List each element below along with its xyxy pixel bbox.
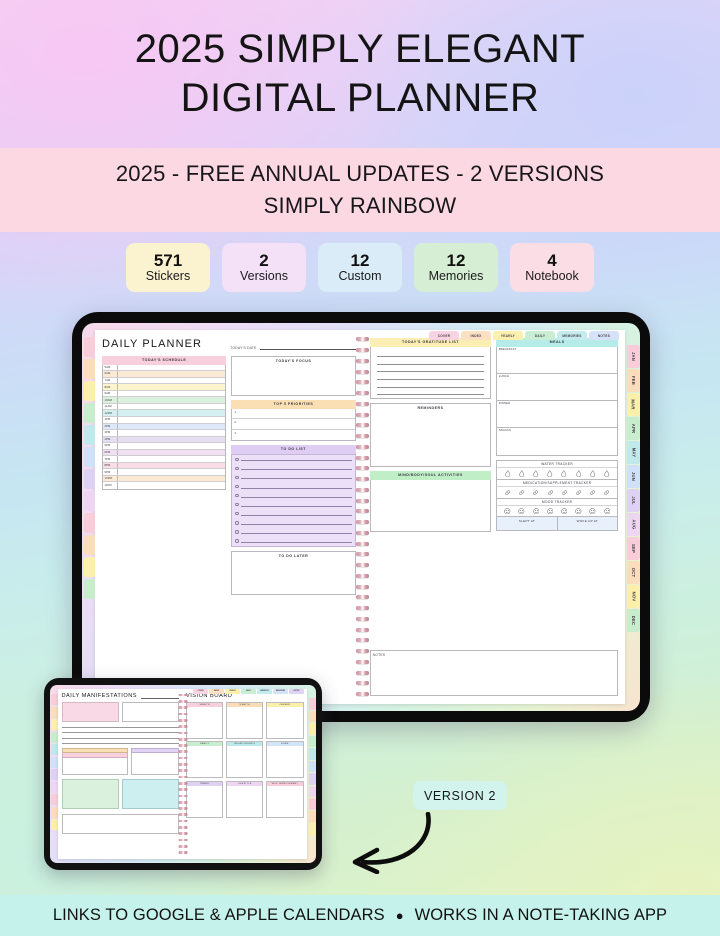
priorities-header: TOP 5 PRIORITIES	[231, 400, 355, 409]
meal-section-dinner[interactable]: DINNER	[497, 401, 617, 428]
schedule-entry[interactable]	[118, 371, 225, 377]
schedule-header: TODAY'S SCHEDULE	[102, 356, 226, 365]
pill-icon[interactable]	[589, 489, 596, 496]
todo-item[interactable]	[232, 482, 354, 491]
mood-tracker-panel: MOOD TRACKER SLEPT AT WOKE UP AT	[496, 499, 618, 531]
todo-item[interactable]	[232, 500, 354, 509]
todo-panel: TO DO LIST	[231, 445, 355, 547]
schedule-time: 11AM	[103, 404, 118, 410]
v2-section-tabs[interactable]: COVERINDEXYEARLYDAILYMANIFESTMEMORIESNOT…	[193, 689, 304, 694]
schedule-time: 7PM	[103, 456, 118, 462]
badge-label: Versions	[240, 270, 288, 284]
spiral-ring	[178, 832, 187, 835]
priority-row[interactable]: 3.	[232, 430, 354, 441]
vision-cell-label: HOME	[267, 742, 302, 746]
feature-badge-stickers: 571Stickers	[126, 243, 210, 292]
water-drop-icon[interactable]	[576, 470, 582, 477]
schedule-entry[interactable]	[118, 404, 225, 410]
schedule-entry[interactable]	[118, 437, 225, 443]
section-tab-daily[interactable]: DAILY	[525, 331, 555, 340]
section-tab-yearly[interactable]: YEARLY	[493, 331, 523, 340]
spiral-ring	[356, 628, 369, 632]
todo-item[interactable]	[232, 455, 354, 464]
todo-text-line[interactable]	[241, 503, 351, 507]
mood-face-icon[interactable]	[604, 508, 611, 515]
mind-body-field[interactable]	[370, 480, 492, 532]
color-tab[interactable]	[309, 723, 316, 735]
meals-panel: MEALS BREAKFASTLUNCHDINNERSNACKS	[496, 338, 618, 456]
v2-section-tab-memories[interactable]: MEMORIES	[273, 689, 288, 694]
color-tab[interactable]	[51, 732, 58, 743]
affirmation-box[interactable]	[62, 702, 119, 722]
footer-right-text: WORKS IN A NOTE-TAKING APP	[415, 906, 668, 925]
badge-label: Custom	[338, 270, 381, 284]
month-tab-nov[interactable]: NOV	[627, 585, 640, 608]
spiral-ring	[356, 649, 369, 653]
vision-board-heading: VISION BOARD	[186, 693, 304, 699]
vision-cell-label: HEALTH	[187, 703, 222, 707]
checkbox-icon[interactable]	[235, 512, 238, 515]
water-drop-icon[interactable]	[533, 470, 539, 477]
color-tab[interactable]	[51, 757, 58, 768]
spiral-ring	[356, 391, 369, 395]
color-tab[interactable]	[51, 794, 58, 805]
spiral-ring	[356, 423, 369, 427]
todo-text-line[interactable]	[241, 457, 351, 461]
spiral-binding	[356, 330, 370, 704]
todo-text-line[interactable]	[241, 539, 351, 543]
todo-item[interactable]	[232, 473, 354, 482]
color-tab[interactable]	[309, 773, 316, 785]
version-2-label: VERSION 2	[424, 789, 496, 803]
month-tab-dec[interactable]: DEC	[627, 609, 640, 632]
vision-board-cell[interactable]: WEALTH	[226, 702, 263, 739]
spiral-ring	[178, 744, 187, 747]
slept-at-field[interactable]: SLEPT AT	[497, 517, 557, 530]
todo-text-line[interactable]	[241, 512, 351, 516]
spiral-ring	[356, 413, 369, 417]
manifest-line[interactable]	[62, 731, 180, 733]
left-color-tab-strip[interactable]	[82, 323, 95, 711]
schedule-entry[interactable]	[118, 417, 225, 423]
schedule-entry[interactable]	[118, 384, 225, 390]
spiral-ring	[178, 782, 187, 785]
todo-text-line[interactable]	[241, 466, 351, 470]
checkbox-icon[interactable]	[235, 530, 238, 533]
badge-label: Stickers	[146, 270, 190, 284]
spiral-ring	[178, 738, 187, 741]
spiral-ring	[356, 692, 369, 696]
month-tab-label: JAN	[631, 352, 636, 361]
woke-up-at-field[interactable]: WOKE UP AT	[558, 517, 617, 530]
vision-board-cell[interactable]: CAREER	[266, 702, 303, 739]
daily-planner-heading: DAILY PLANNER	[102, 338, 202, 350]
color-tab[interactable]	[309, 711, 316, 723]
color-tab[interactable]	[84, 359, 95, 379]
color-tab[interactable]	[309, 748, 316, 760]
schedule-entry[interactable]	[118, 450, 225, 456]
vision-board-cell[interactable]: HOME	[266, 741, 303, 778]
schedule-entry[interactable]	[118, 482, 225, 489]
month-tab-label: SEP	[631, 544, 636, 553]
manifest-footer-box[interactable]	[62, 814, 180, 834]
month-tab-strip[interactable]: JANFEBMARAPRMAYJUNJULAUGSEPOCTNOVDEC	[625, 323, 640, 711]
month-tab-jun[interactable]: JUN	[627, 465, 640, 488]
planner-page-right: TODAY'S GRATITUDE LIST REMINDERS MIND/BO…	[363, 330, 625, 704]
color-tab[interactable]	[51, 782, 58, 793]
v2-section-tab-label: MEMORIES	[276, 690, 285, 692]
water-drop-icon[interactable]	[505, 470, 511, 477]
schedule-entry[interactable]	[118, 469, 225, 475]
mood-face-icon[interactable]	[589, 508, 596, 515]
spiral-ring	[178, 813, 187, 816]
priority-row[interactable]: 1.	[232, 409, 354, 420]
tablet-device-large: COVERINDEXYEARLYDAILYMEMORIESNOTES DAILY…	[72, 312, 650, 722]
schedule-time: 6AM	[103, 371, 118, 377]
gratitude-line[interactable]	[377, 357, 485, 365]
gratitude-line[interactable]	[377, 350, 485, 358]
todo-item[interactable]	[232, 527, 354, 536]
vision-cell-label: LIFESTYLE	[227, 782, 262, 786]
mood-tracker-header: MOOD TRACKER	[497, 499, 617, 506]
todo-text-line[interactable]	[241, 485, 351, 489]
priorities-list[interactable]: 1.2.3.	[231, 409, 355, 442]
spiral-ring	[356, 638, 369, 642]
section-tab-label: MEMORIES	[562, 334, 581, 338]
mood-face-icon[interactable]	[561, 508, 568, 515]
color-tab[interactable]	[84, 381, 95, 401]
schedule-time: 3PM	[103, 430, 118, 436]
color-tab[interactable]	[84, 469, 95, 489]
water-drop-icon[interactable]	[519, 470, 525, 477]
color-tab[interactable]	[51, 819, 58, 830]
mood-face-icon[interactable]	[518, 508, 525, 515]
footer-separator: ●	[396, 908, 404, 923]
manifest-note-box[interactable]	[122, 702, 179, 722]
theme-box[interactable]	[131, 753, 179, 775]
v2-section-tab-label: COVER	[197, 690, 203, 692]
version-2-badge: VERSION 2	[413, 781, 507, 810]
month-tab-oct[interactable]: OCT	[627, 561, 640, 584]
spiral-ring	[356, 520, 369, 524]
spiral-ring	[178, 763, 187, 766]
vision-board-cell[interactable]: TRAVEL	[186, 781, 223, 818]
v2-left-color-tab-strip[interactable]	[50, 685, 58, 863]
pill-icon[interactable]	[532, 489, 539, 496]
manifest-line[interactable]	[62, 742, 180, 744]
schedule-entry[interactable]	[118, 443, 225, 449]
schedule-time: 8PM	[103, 463, 118, 469]
vision-board-cell[interactable]: HEALTH	[186, 702, 223, 739]
todo-item[interactable]	[232, 518, 354, 527]
pill-icon[interactable]	[561, 489, 568, 496]
section-tab-label: NOTES	[598, 334, 610, 338]
checkbox-icon[interactable]	[235, 485, 238, 488]
month-tab-label: APR	[631, 424, 636, 433]
todo-item[interactable]	[232, 464, 354, 473]
schedule-time: 9PM	[103, 469, 118, 475]
gratitude-line[interactable]	[377, 372, 485, 380]
color-tab[interactable]	[84, 513, 95, 533]
color-tab[interactable]	[51, 694, 58, 705]
gratitude-line[interactable]	[377, 365, 485, 373]
vision-board-cell[interactable]: FAMILY	[186, 741, 223, 778]
todo-item[interactable]	[232, 491, 354, 500]
schedule-entry[interactable]	[118, 430, 225, 436]
spiral-ring	[178, 732, 187, 735]
section-tab-label: YEARLY	[501, 334, 515, 338]
v2-paper: COVERINDEXYEARLYDAILYMANIFESTMEMORIESNOT…	[58, 689, 307, 859]
meal-label: BREAKFAST	[499, 348, 616, 351]
schedule-entry[interactable]	[118, 391, 225, 397]
gratitude-green-box[interactable]	[62, 779, 119, 809]
spiral-ring	[178, 719, 187, 722]
schedule-time: 10AM	[103, 397, 118, 403]
todo-item[interactable]	[232, 509, 354, 518]
gratitude-line[interactable]	[377, 388, 485, 396]
todays-date-label: TODAY'S DATE	[230, 346, 256, 350]
spiral-ring	[178, 713, 187, 716]
manifestations-spread: COVERINDEXYEARLYDAILYMANIFESTMEMORIESNOT…	[50, 685, 316, 863]
schedule-entry[interactable]	[118, 365, 225, 371]
gratitude-lines[interactable]	[370, 347, 492, 400]
notes-header: NOTES	[373, 653, 615, 657]
todo-text-line[interactable]	[241, 530, 351, 534]
badge-number: 2	[259, 252, 268, 270]
planner-spread: COVERINDEXYEARLYDAILYMEMORIESNOTES DAILY…	[82, 323, 640, 711]
pill-icon[interactable]	[603, 489, 610, 496]
month-tab-jul[interactable]: JUL	[627, 489, 640, 512]
v2-section-tab-label: MANIFEST	[260, 690, 269, 692]
vision-board-cell[interactable]: RELATIONSHIPS	[226, 741, 263, 778]
schedule-time: 4PM	[103, 437, 118, 443]
tablet-device-small: COVERINDEXYEARLYDAILYMANIFESTMEMORIESNOT…	[44, 678, 322, 870]
spiral-ring	[178, 788, 187, 791]
v2-section-tab-yearly[interactable]: YEARLY	[225, 689, 240, 694]
pill-icon[interactable]	[518, 489, 525, 496]
v2-section-tab-manifest[interactable]: MANIFEST	[257, 689, 272, 694]
spiral-ring	[178, 700, 187, 703]
checkbox-icon[interactable]	[235, 521, 238, 524]
checkbox-icon[interactable]	[235, 476, 238, 479]
meal-section-breakfast[interactable]: BREAKFAST	[497, 347, 617, 374]
vision-cell-label: FAMILY	[187, 742, 222, 746]
water-tracker-panel: WATER TRACKER	[496, 460, 618, 480]
pill-icon[interactable]	[547, 489, 554, 496]
todo-text-line[interactable]	[241, 494, 351, 498]
month-tab-feb[interactable]: FEB	[627, 369, 640, 392]
spiral-ring	[178, 820, 187, 823]
v2-date-field[interactable]	[141, 696, 179, 699]
reminders-panel: REMINDERS	[370, 403, 492, 467]
mood-tracker-icons[interactable]	[497, 506, 617, 516]
visualization-rows[interactable]	[62, 758, 129, 775]
month-tab-aug[interactable]: AUG	[627, 513, 640, 536]
meal-label: LUNCH	[499, 375, 616, 378]
schedule-entry[interactable]	[118, 424, 225, 430]
pill-icon[interactable]	[504, 489, 511, 496]
spiral-ring	[178, 807, 187, 810]
page-title: 2025 SIMPLY ELEGANT DIGITAL PLANNER	[0, 0, 720, 148]
color-tab[interactable]	[84, 535, 95, 555]
v2-section-tab-index[interactable]: INDEX	[209, 689, 224, 694]
checkbox-icon[interactable]	[235, 494, 238, 497]
mood-face-icon[interactable]	[575, 508, 582, 515]
schedule-entry[interactable]	[118, 378, 225, 384]
pill-icon[interactable]	[575, 489, 582, 496]
water-drop-icon[interactable]	[547, 470, 553, 477]
manifest-line[interactable]	[62, 726, 180, 728]
section-tab-memories[interactable]: MEMORIES	[557, 331, 587, 340]
feature-badges: 571Stickers2Versions12Custom12Memories4N…	[0, 243, 720, 292]
vision-board-grid[interactable]: HEALTHWEALTHCAREERFAMILYRELATIONSHIPSHOM…	[186, 702, 304, 818]
water-drop-icon[interactable]	[590, 470, 596, 477]
section-tab-cover[interactable]: COVER	[429, 331, 459, 340]
todo-list[interactable]	[231, 454, 355, 547]
mood-face-icon[interactable]	[504, 508, 511, 515]
reminders-header: REMINDERS	[371, 406, 491, 410]
color-tab[interactable]	[309, 786, 316, 798]
priorities-panel: TOP 5 PRIORITIES 1.2.3.	[231, 400, 355, 441]
spiral-ring	[356, 370, 369, 374]
medication-tracker-icons[interactable]	[497, 487, 617, 498]
todo-item[interactable]	[232, 537, 354, 546]
section-tab-index[interactable]: INDEX	[461, 331, 491, 340]
checkbox-icon[interactable]	[235, 467, 238, 470]
spiral-ring	[178, 757, 187, 760]
spiral-ring	[178, 769, 187, 772]
month-tab-label: NOV	[631, 592, 636, 602]
water-tracker-icons[interactable]	[497, 468, 617, 479]
color-tab[interactable]	[309, 811, 316, 823]
medication-tracker-panel: MEDICATION/SUPPLEMENT TRACKER	[496, 480, 618, 499]
spiral-ring	[178, 776, 187, 779]
spiral-ring	[178, 839, 187, 842]
color-tab[interactable]	[309, 736, 316, 748]
schedule-entry[interactable]	[118, 476, 225, 482]
vision-board-cell[interactable]: SELF IMPROVEMENT	[266, 781, 303, 818]
priority-row[interactable]: 2.	[232, 419, 354, 430]
v2-section-tab-daily[interactable]: DAILY	[241, 689, 256, 694]
color-tab[interactable]	[309, 823, 316, 835]
checkbox-icon[interactable]	[235, 458, 238, 461]
color-tab[interactable]	[51, 807, 58, 818]
vision-cell-label: CAREER	[267, 703, 302, 707]
meals-sections[interactable]: BREAKFASTLUNCHDINNERSNACKS	[496, 347, 618, 456]
footer-left-text: LINKS TO GOOGLE & APPLE CALENDARS	[53, 906, 385, 925]
affirmation-teal-box[interactable]	[122, 779, 179, 809]
section-tab-label: DAILY	[535, 334, 546, 338]
color-tab[interactable]	[84, 491, 95, 511]
planner-section-tabs[interactable]: COVERINDEXYEARLYDAILYMEMORIESNOTES	[429, 331, 619, 340]
month-tab-label: AUG	[631, 520, 636, 530]
v2-section-tab-cover[interactable]: COVER	[193, 689, 208, 694]
manifest-line[interactable]	[62, 736, 180, 738]
schedule-table[interactable]: 5AM6AM7AM8AM9AM10AM11AM12PM1PM2PM3PM4PM5…	[102, 365, 226, 490]
color-tab[interactable]	[51, 769, 58, 780]
spiral-ring	[356, 552, 369, 556]
section-tab-notes[interactable]: NOTES	[589, 331, 619, 340]
badge-number: 4	[547, 252, 556, 270]
meal-section-snacks[interactable]: SNACKS	[497, 428, 617, 455]
month-tab-mar[interactable]: MAR	[627, 393, 640, 416]
mood-face-icon[interactable]	[533, 508, 540, 515]
color-tab[interactable]	[84, 425, 95, 445]
mind-body-header: MIND/BODY/SOUL ACTIVITIES	[370, 471, 492, 480]
checkbox-icon[interactable]	[235, 539, 238, 542]
color-tab[interactable]	[84, 337, 95, 357]
spiral-ring	[178, 795, 187, 798]
spiral-ring	[356, 348, 369, 352]
color-tab[interactable]	[84, 447, 95, 467]
color-tab[interactable]	[51, 744, 58, 755]
planner-paper: COVERINDEXYEARLYDAILYMEMORIESNOTES DAILY…	[95, 330, 625, 704]
feature-badge-custom: 12Custom	[318, 243, 402, 292]
badge-label: Notebook	[525, 270, 579, 284]
spiral-ring	[356, 456, 369, 460]
color-tab[interactable]	[309, 798, 316, 810]
todo-later-header: TO DO LATER	[232, 554, 354, 558]
schedule-time: 7AM	[103, 378, 118, 384]
month-tab-sep[interactable]: SEP	[627, 537, 640, 560]
meal-label: SNACKS	[499, 429, 616, 432]
water-tracker-header: WATER TRACKER	[497, 461, 617, 468]
v2-section-tab-notes[interactable]: NOTES	[289, 689, 304, 694]
color-tab[interactable]	[84, 557, 95, 577]
schedule-time: 10PM	[103, 476, 118, 482]
month-tab-jan[interactable]: JAN	[627, 345, 640, 368]
todo-text-line[interactable]	[241, 475, 351, 479]
color-tab[interactable]	[51, 719, 58, 730]
spiral-ring	[178, 750, 187, 753]
schedule-time: 5PM	[103, 443, 118, 449]
mood-face-icon[interactable]	[547, 508, 554, 515]
spiral-ring	[356, 585, 369, 589]
schedule-entry[interactable]	[118, 456, 225, 462]
color-tab[interactable]	[309, 698, 316, 710]
water-drop-icon[interactable]	[604, 470, 610, 477]
vision-board-page: VISION BOARD HEALTHWEALTHCAREERFAMILYREL…	[183, 689, 308, 859]
vision-board-cell[interactable]: LIFESTYLE	[226, 781, 263, 818]
schedule-entry[interactable]	[118, 397, 225, 403]
todays-date-field[interactable]	[260, 345, 356, 350]
color-tab[interactable]	[51, 707, 58, 718]
color-tab[interactable]	[309, 761, 316, 773]
schedule-time: 5AM	[103, 365, 118, 371]
spiral-ring	[356, 542, 369, 546]
curved-arrow-icon	[325, 812, 435, 874]
notes-panel[interactable]: NOTES	[370, 650, 618, 696]
schedule-entry[interactable]	[118, 410, 225, 416]
schedule-entry[interactable]	[118, 463, 225, 469]
month-tab-label: MAR	[631, 399, 636, 409]
schedule-row[interactable]: 11PM	[103, 482, 225, 489]
spiral-ring	[178, 826, 187, 829]
checkbox-icon[interactable]	[235, 503, 238, 506]
schedule-time: 12PM	[103, 410, 118, 416]
water-drop-icon[interactable]	[561, 470, 567, 477]
month-tab-may[interactable]: MAY	[627, 441, 640, 464]
section-tab-label: COVER	[438, 334, 451, 338]
color-tab[interactable]	[84, 403, 95, 423]
color-tab[interactable]	[84, 579, 95, 599]
gratitude-line[interactable]	[377, 380, 485, 388]
todo-text-line[interactable]	[241, 521, 351, 525]
v2-right-color-tab-strip[interactable]	[307, 685, 316, 863]
month-tab-apr[interactable]: APR	[627, 417, 640, 440]
badge-number: 571	[154, 252, 182, 270]
meal-section-lunch[interactable]: LUNCH	[497, 374, 617, 401]
